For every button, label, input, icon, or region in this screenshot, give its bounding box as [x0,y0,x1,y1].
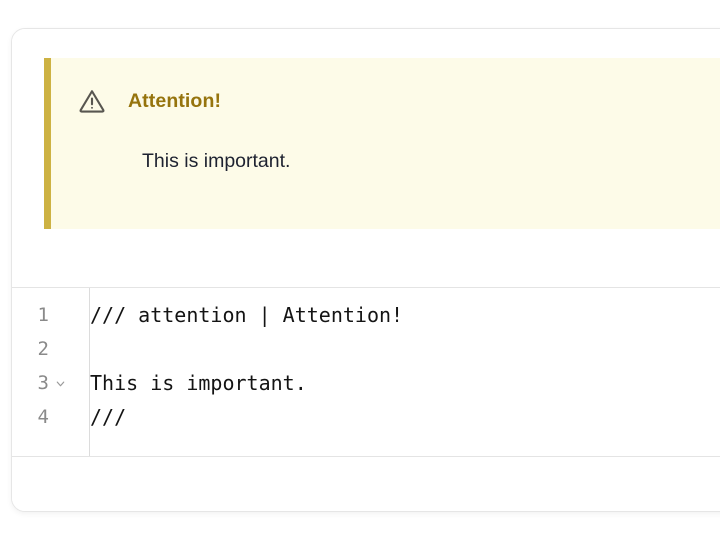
chevron-down-icon[interactable] [49,377,72,389]
line-number: 4 [12,406,49,428]
code-line-text: /// attention | Attention! [90,303,720,327]
rendered-preview-pane: Attention! This is important. [12,29,720,288]
code-line-row: 4 /// [12,400,720,434]
code-line-row: 3 This is important. [12,366,720,400]
code-lines: 1 /// attention | Attention! 2 3 This is… [12,298,720,434]
code-line-text: This is important. [90,371,720,395]
admonition-body-text: This is important. [142,150,290,173]
code-line-text: /// [90,405,720,429]
warning-triangle-icon [77,86,107,116]
admonition-title-row: Attention! [77,86,221,116]
documentation-example-card: Attention! This is important. 1 /// atte… [11,28,720,512]
code-line-row: 1 /// attention | Attention! [12,298,720,332]
line-number: 3 [12,372,49,394]
source-code-pane[interactable]: 1 /// attention | Attention! 2 3 This is… [12,288,720,457]
line-number: 1 [12,304,49,326]
card-footer [12,458,720,512]
admonition-attention: Attention! This is important. [44,58,720,229]
line-number: 2 [12,338,49,360]
code-line-row: 2 [12,332,720,366]
admonition-title: Attention! [128,90,221,113]
